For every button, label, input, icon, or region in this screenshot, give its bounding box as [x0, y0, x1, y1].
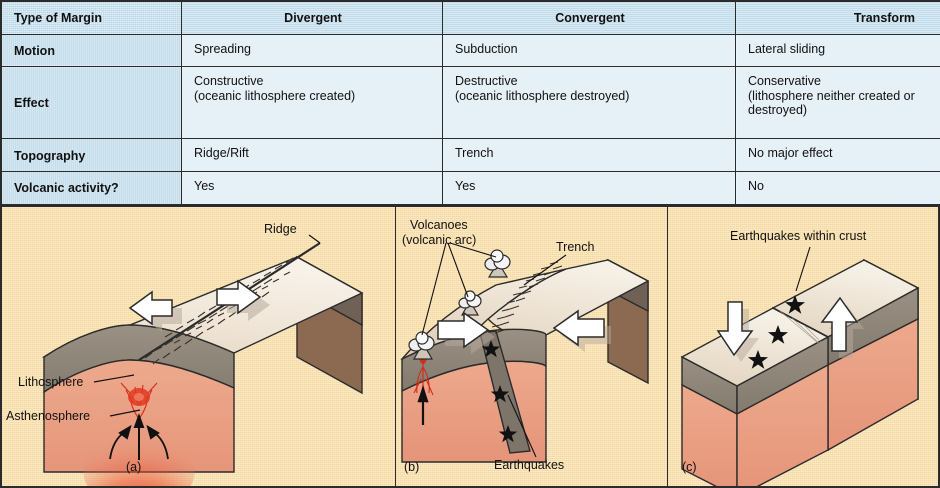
- earthquakes-crust-leader-line: [796, 247, 810, 291]
- cell-volcanic-divergent: Yes: [182, 172, 443, 205]
- margin-comparison-table: Type of Margin Divergent Convergent Tran…: [0, 0, 940, 206]
- cell-volcanic-convergent: Yes: [443, 172, 736, 205]
- caption-a: (a): [126, 460, 141, 474]
- table-row: Effect Constructive (oceanic lithosphere…: [1, 67, 940, 139]
- transform-block-diagram: Earthquakes within crust (c): [668, 207, 939, 486]
- table-row: Volcanic activity? Yes Yes No: [1, 172, 940, 205]
- table-row: Motion Spreading Subduction Lateral slid…: [1, 34, 940, 67]
- label-volcanoes-line2: (volcanic arc): [402, 233, 476, 247]
- figure-root: Type of Margin Divergent Convergent Tran…: [0, 0, 940, 488]
- cell-effect-transform: Conservative (lithosphere neither create…: [736, 67, 940, 139]
- cell-topography-divergent: Ridge/Rift: [182, 139, 443, 172]
- ridge-leader-line: [309, 235, 320, 243]
- row-label-effect: Effect: [1, 67, 182, 139]
- row-label-motion: Motion: [1, 34, 182, 67]
- label-earthquakes-within-crust: Earthquakes within crust: [730, 229, 867, 243]
- table-row: Topography Ridge/Rift Trench No major ef…: [1, 139, 940, 172]
- panel-divergent: Ridge Lithosphere Asthenosphere (a): [2, 207, 395, 486]
- table-header-type-of-margin: Type of Margin: [1, 1, 182, 34]
- cell-motion-transform: Lateral sliding: [736, 34, 940, 67]
- caption-b: (b): [404, 460, 419, 474]
- cell-topography-transform: No major effect: [736, 139, 940, 172]
- table-header-row: Type of Margin Divergent Convergent Tran…: [1, 1, 940, 34]
- table-header-convergent: Convergent: [443, 1, 736, 34]
- table-header-divergent: Divergent: [182, 1, 443, 34]
- diagram-strip: Ridge Lithosphere Asthenosphere (a): [0, 205, 940, 488]
- convergent-block-diagram: Volcanoes (volcanic arc) Trench Earthqua…: [396, 207, 668, 486]
- label-asthenosphere: Asthenosphere: [6, 409, 90, 423]
- row-label-volcanic-activity: Volcanic activity?: [1, 172, 182, 205]
- cell-motion-convergent: Subduction: [443, 34, 736, 67]
- cell-topography-convergent: Trench: [443, 139, 736, 172]
- panel-convergent: Volcanoes (volcanic arc) Trench Earthqua…: [395, 207, 668, 486]
- label-volcanoes-line1: Volcanoes: [410, 218, 468, 232]
- panel-transform: Earthquakes within crust (c): [667, 207, 939, 486]
- row-label-topography: Topography: [1, 139, 182, 172]
- cell-effect-convergent: Destructive (oceanic lithosphere destroy…: [443, 67, 736, 139]
- table-header-transform: Transform: [736, 1, 940, 34]
- label-trench: Trench: [556, 240, 594, 254]
- caption-c: (c): [682, 460, 697, 474]
- divergent-block-diagram: Ridge Lithosphere Asthenosphere (a): [2, 207, 395, 486]
- label-ridge: Ridge: [264, 222, 297, 236]
- label-lithosphere: Lithosphere: [18, 375, 83, 389]
- cell-effect-divergent: Constructive (oceanic lithosphere create…: [182, 67, 443, 139]
- label-earthquakes: Earthquakes: [494, 458, 564, 472]
- cell-volcanic-transform: No: [736, 172, 940, 205]
- volcano-cloud-icon: [485, 250, 510, 277]
- cell-motion-divergent: Spreading: [182, 34, 443, 67]
